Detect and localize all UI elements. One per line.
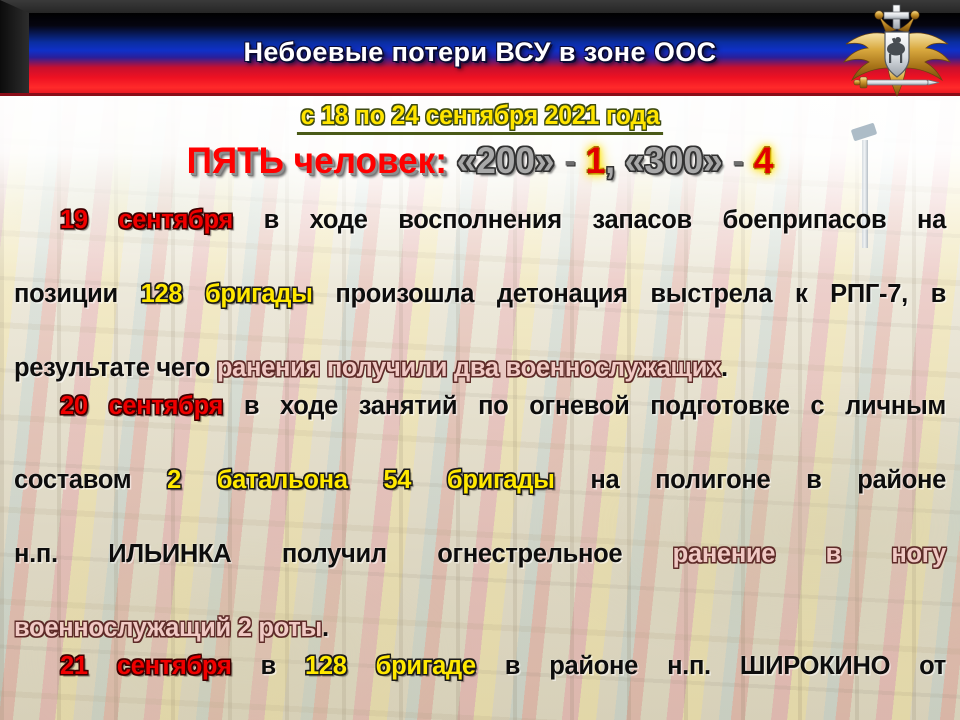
paragraph-incident-20-september-line-4: военнослужащий 2 роты.	[14, 610, 946, 647]
poster-root: Небоевые потери ВСУ в зоне ООС	[0, 0, 960, 720]
kia-code-label: «200»	[457, 140, 555, 181]
text-run-black: н.п. ИЛЬИНКА получил огнестрельное	[14, 540, 673, 568]
paragraph-incident-19-september-line-1: 19 сентября в ходе восполнения запасов б…	[14, 202, 946, 276]
report-body: 19 сентября в ходе восполнения запасов б…	[14, 202, 946, 720]
summary-separator: ,	[605, 140, 615, 181]
paragraph-incident-21-september-line-1: 21 сентября в 128 бригаде в районе н.п. …	[14, 648, 946, 720]
text-run-pink: ранения получили два военнослужащих	[217, 354, 721, 382]
text-run-yellow: 128 бригады	[141, 280, 313, 308]
wia-code-label: «300»	[625, 140, 723, 181]
text-run-black: на полигоне в районе	[555, 466, 946, 494]
kia-dash: -	[564, 140, 576, 181]
text-run-pink: военнослужащий 2 роты	[14, 614, 322, 642]
paragraph-incident-19-september: 19 сентября в ходе восполнения запасов б…	[14, 202, 946, 387]
paragraph-incident-19-september-line-3: результате чего ранения получили два вое…	[14, 350, 946, 387]
paragraph-incident-20-september-line-1: 20 сентября в ходе занятий по огневой по…	[14, 388, 946, 462]
text-run-yellow: 128 бригаде	[305, 652, 476, 680]
text-run-black: в ходе восполнения запасов боеприпасов н…	[233, 206, 946, 234]
text-run-black: составом	[14, 466, 167, 494]
text-run-red: 21 сентября	[60, 652, 231, 680]
paragraph-incident-20-september: 20 сентября в ходе занятий по огневой по…	[14, 388, 946, 647]
date-range-label: с 18 по 24 сентября 2021 года	[297, 100, 663, 135]
headline-block: с 18 по 24 сентября 2021 года ПЯТЬ челов…	[0, 100, 960, 182]
wia-count: 4	[754, 140, 774, 181]
text-run-black: .	[721, 354, 728, 382]
text-run-black: позиции	[14, 280, 141, 308]
text-run-red: 20 сентября	[60, 392, 223, 420]
title-banner: Небоевые потери ВСУ в зоне ООС	[0, 0, 960, 96]
text-run-black: в районе н.п. ШИРОКИНО от	[476, 652, 946, 680]
text-run-black: в	[231, 652, 305, 680]
text-run-black: .	[322, 614, 329, 642]
paragraph-incident-20-september-line-3: н.п. ИЛЬИНКА получил огнестрельное ранен…	[14, 536, 946, 610]
kia-count: 1	[586, 140, 606, 181]
casualty-summary-line: ПЯТЬ человек: «200» - 1, «300» - 4	[24, 140, 936, 182]
text-run-black: произошла детонация выстрела к РПГ-7, в	[313, 280, 946, 308]
text-run-black: результате чего	[14, 354, 217, 382]
banner-title-wrap: Небоевые потери ВСУ в зоне ООС	[0, 0, 960, 96]
total-casualties-label: ПЯТЬ человек:	[187, 140, 447, 181]
double-headed-eagle-emblem	[838, 2, 956, 102]
text-run-pink: ранение в ногу	[673, 540, 946, 568]
text-run-yellow: 2 батальона 54 бригады	[167, 466, 555, 494]
text-run-black: в ходе занятий по огневой подготовке с л…	[223, 392, 946, 420]
paragraph-incident-21-september: 21 сентября в 128 бригаде в районе н.п. …	[14, 648, 946, 720]
paragraph-incident-19-september-line-2: позиции 128 бригады произошла детонация …	[14, 276, 946, 350]
text-run-red: 19 сентября	[60, 206, 233, 234]
page-title: Небоевые потери ВСУ в зоне ООС	[243, 37, 716, 68]
wia-dash: -	[732, 140, 744, 181]
paragraph-incident-20-september-line-2: составом 2 батальона 54 бригады на полиг…	[14, 462, 946, 536]
